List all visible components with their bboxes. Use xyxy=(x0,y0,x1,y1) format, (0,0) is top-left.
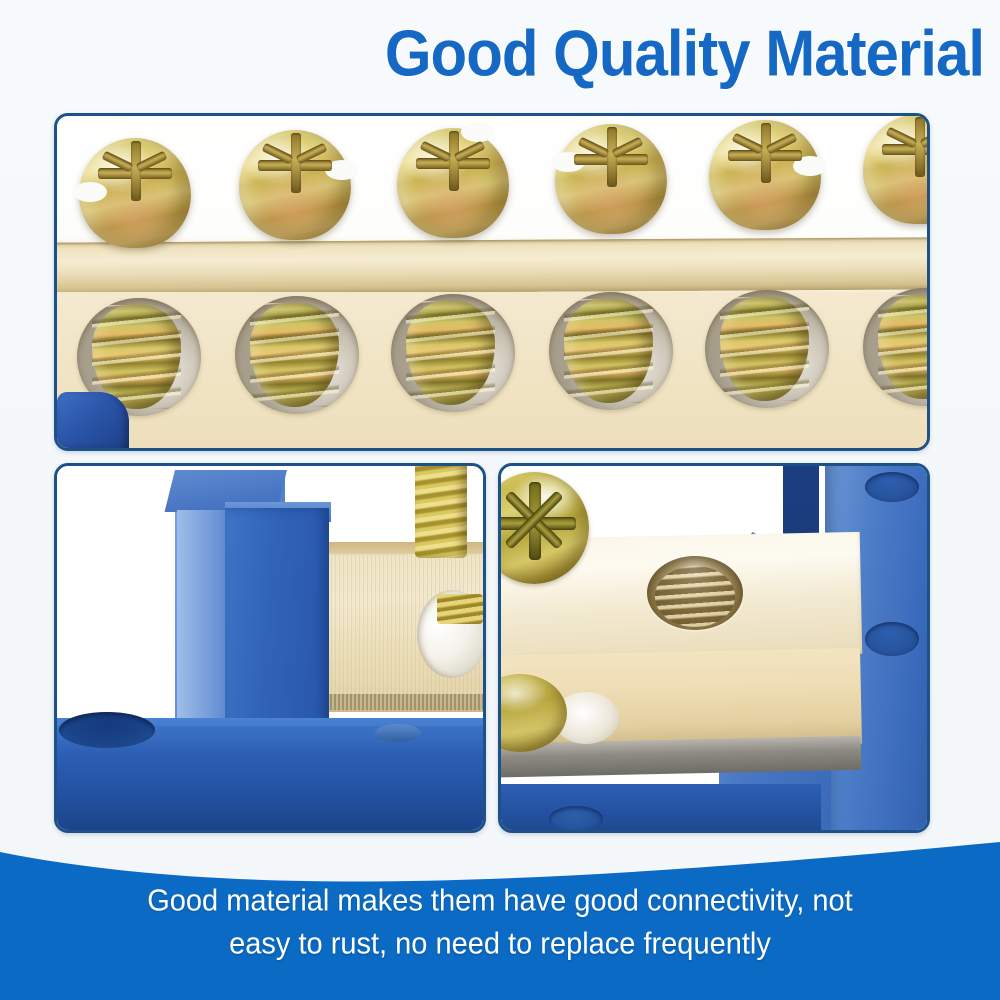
brass-busbar xyxy=(57,237,927,294)
screw-thread xyxy=(878,295,927,399)
blue-plastic-nub xyxy=(375,724,421,742)
page-title-area: Good Quality Material xyxy=(0,10,1000,98)
blue-plastic-mounting-hole xyxy=(865,622,919,656)
page-title: Good Quality Material xyxy=(385,22,984,87)
screw-head xyxy=(555,124,667,234)
product-photo-panel-bottom-right xyxy=(498,463,930,833)
pozidriv-cross-icon xyxy=(98,154,172,188)
footer-caption-line-1: Good material makes them have good conne… xyxy=(60,880,940,924)
pozidriv-cross-icon xyxy=(574,140,648,174)
blue-plastic-highlight-edge xyxy=(177,510,229,748)
blue-plastic-insulator-edge xyxy=(57,392,129,448)
screw-thread-shaft xyxy=(415,466,467,558)
bottom-right-panel-scene xyxy=(501,466,927,830)
screw-thread xyxy=(406,301,495,405)
pozidriv-cross-icon xyxy=(501,482,576,560)
screw-thread xyxy=(250,303,339,407)
pozidriv-cross-icon xyxy=(258,146,332,180)
infographic-canvas: Good Quality Material xyxy=(0,0,1000,1000)
product-photo-panel-top xyxy=(54,113,930,451)
top-panel-scene xyxy=(57,116,927,448)
product-photo-panel-bottom-left xyxy=(54,463,486,833)
blue-plastic-base-strip xyxy=(501,784,821,830)
brass-threaded-hole xyxy=(647,556,743,630)
screw-head xyxy=(239,130,351,240)
screw-thread-in-hole xyxy=(437,594,483,624)
blue-plastic-mounting-hole xyxy=(59,712,155,748)
threaded-screw-tip xyxy=(235,296,359,414)
footer-caption: Good material makes them have good conne… xyxy=(0,880,1000,967)
footer-caption-line-2: easy to rust, no need to replace frequen… xyxy=(60,923,940,967)
footer-banner: Good material makes them have good conne… xyxy=(0,836,1000,1000)
blue-plastic-front-wall xyxy=(225,508,329,750)
threaded-screw-tip xyxy=(549,292,673,410)
pozidriv-cross-icon xyxy=(882,130,927,164)
screw-head-notch xyxy=(461,122,495,142)
screw-head xyxy=(79,138,191,248)
threaded-screw-tip xyxy=(391,294,515,412)
blue-plastic-mounting-hole xyxy=(865,472,919,502)
screw-thread xyxy=(564,299,653,403)
bottom-left-panel-scene xyxy=(57,466,483,830)
pozidriv-cross-icon xyxy=(416,144,490,178)
threaded-screw-tip xyxy=(705,290,829,408)
screw-head xyxy=(397,128,509,238)
pozidriv-cross-icon xyxy=(728,136,802,170)
screw-thread xyxy=(720,297,809,401)
blue-plastic-mounting-hole xyxy=(549,806,603,830)
screw-head xyxy=(709,120,821,230)
